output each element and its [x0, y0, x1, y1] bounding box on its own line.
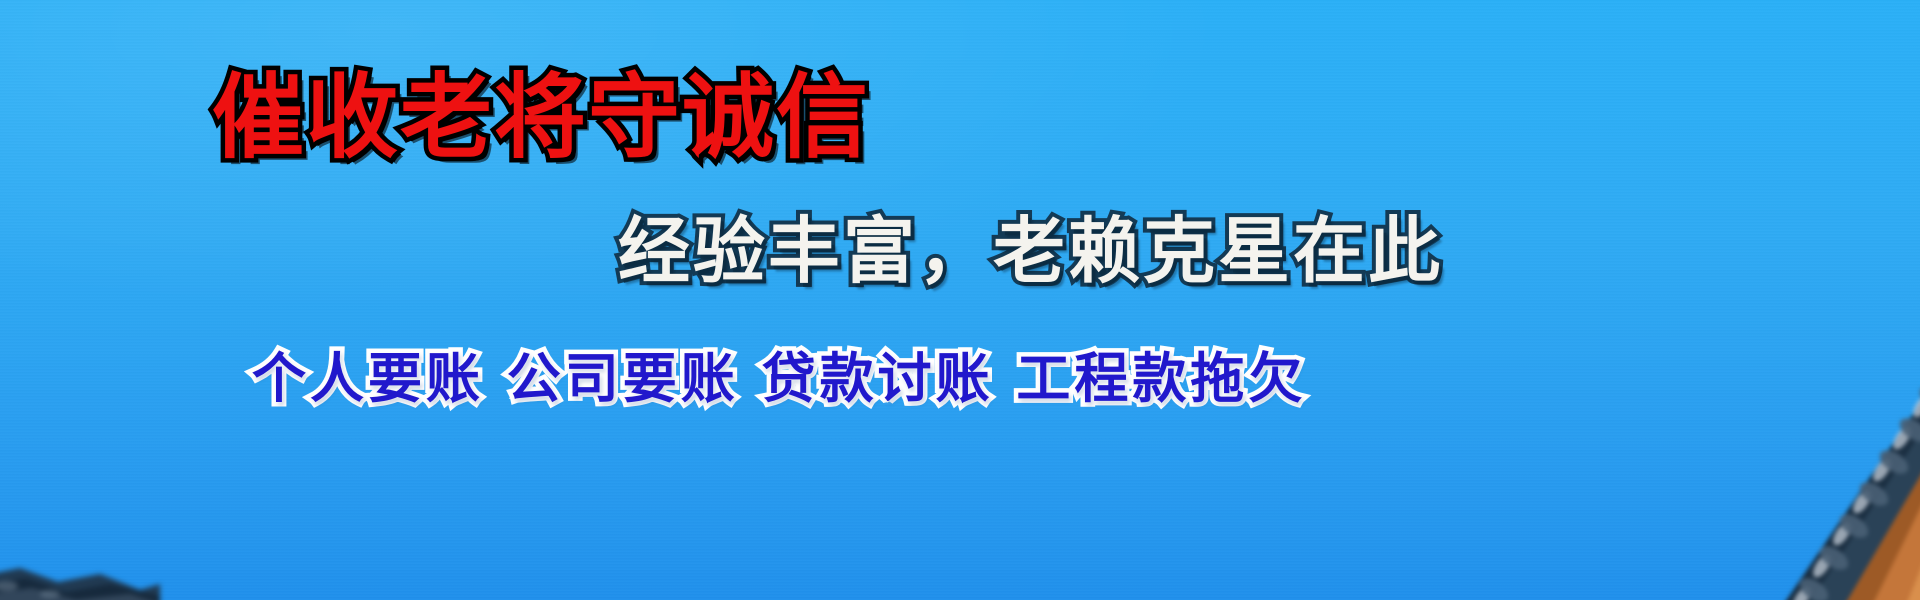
headline-secondary: 经验丰富，老赖克星在此	[618, 215, 1443, 287]
temple-roof-eave-right-icon	[1530, 380, 1920, 600]
headline-primary: 催收老将守诚信	[212, 72, 870, 164]
promo-banner: 催收老将守诚信 经验丰富，老赖克星在此 个人要账 公司要账 贷款讨账 工程款拖欠	[0, 0, 1920, 600]
service-list: 个人要账 公司要账 贷款讨账 工程款拖欠	[252, 352, 1306, 406]
temple-roof-eave-left-icon	[0, 524, 160, 600]
